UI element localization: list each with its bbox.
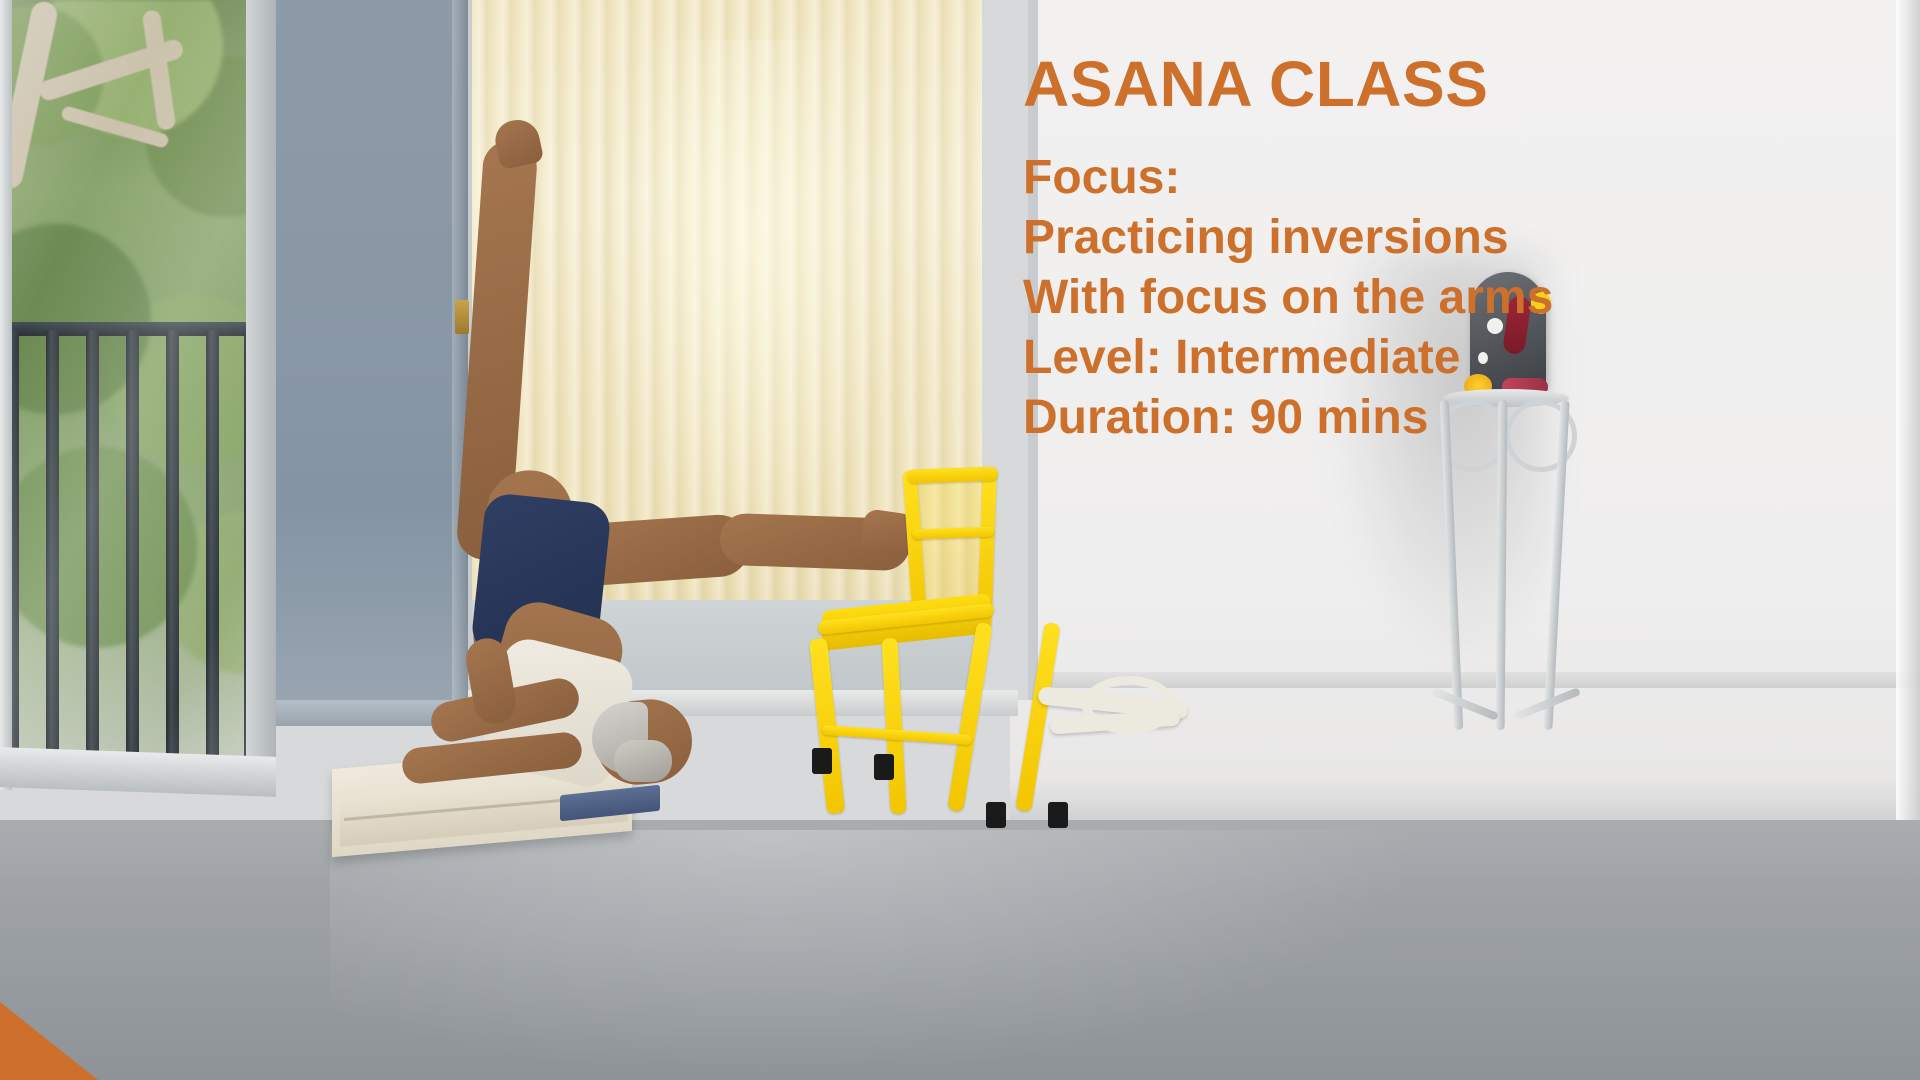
wall-pier [272,0,468,720]
balcony-view [0,0,276,760]
slide-canvas: ASANA CLASS Focus: Practicing inversions… [0,0,1920,1080]
page-title: ASANA CLASS [1023,52,1488,116]
detail-focus-value-1: Practicing inversions [1023,208,1913,268]
door-lock-icon [455,300,469,334]
balcony-threshold [0,747,276,797]
detail-duration: Duration: 90 mins [1023,388,1913,448]
grey-beard [614,740,672,782]
glass-reflection [0,0,276,760]
detail-focus-value-2: With focus on the arms [1023,268,1913,328]
door-frame-left [0,0,12,790]
door-mullion [246,0,276,790]
pier-edge-highlight [452,0,468,720]
detail-focus-label: Focus: [1023,148,1913,208]
detail-level: Level: Intermediate [1023,328,1913,388]
class-details-block: Focus: Practicing inversions With focus … [1023,148,1913,448]
text-overlay: ASANA CLASS Focus: Practicing inversions… [1010,0,1920,1080]
